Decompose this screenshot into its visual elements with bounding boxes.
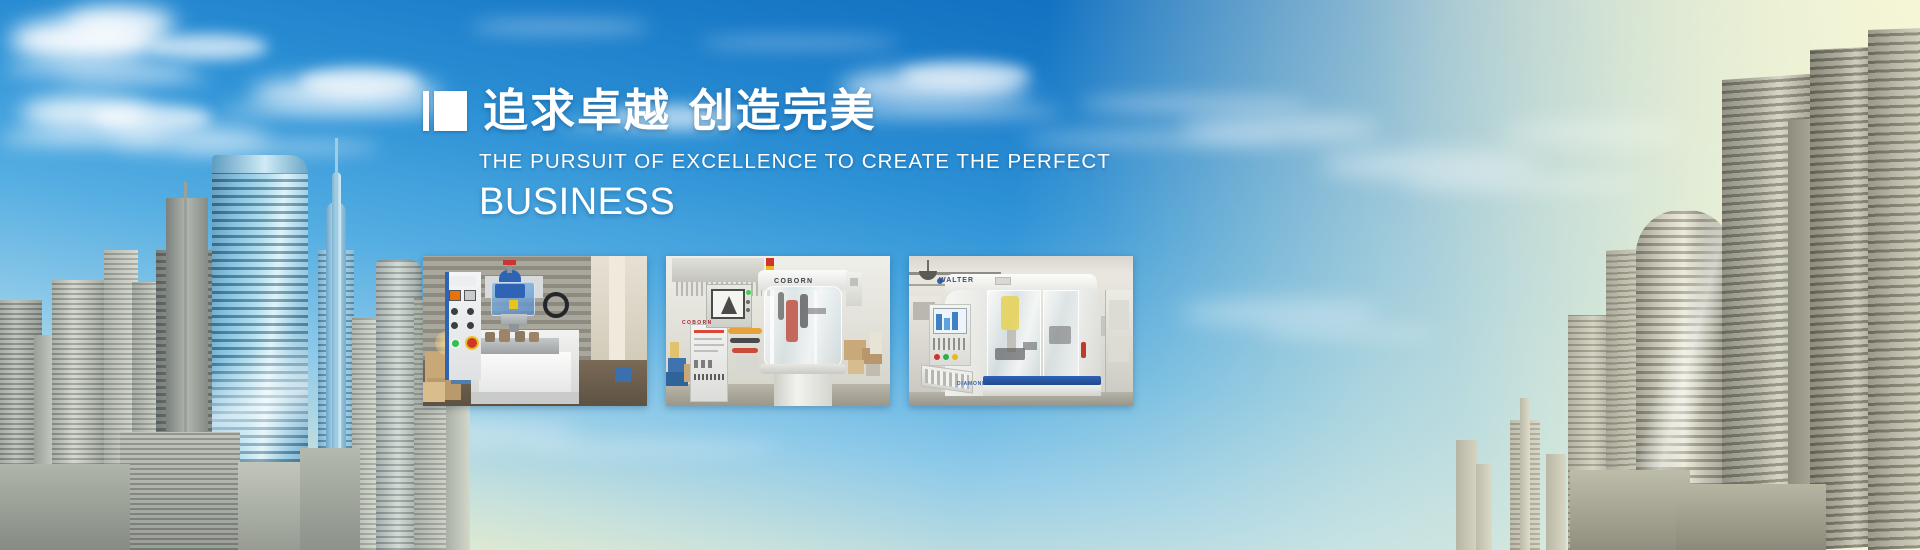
- banner-copy: 追求卓越 创造完美 THE PURSUIT OF EXCELLENCE TO C…: [423, 88, 1183, 223]
- photo-strip: COBORN COBORN: [423, 256, 1133, 406]
- photo-coborn-grinding-machine[interactable]: COBORN COBORN: [666, 256, 890, 406]
- hero-banner: 追求卓越 创造完美 THE PURSUIT OF EXCELLENCE TO C…: [0, 0, 1920, 550]
- headline-row: 追求卓越 创造完美: [423, 88, 1183, 133]
- walter-brand-label: WALTER: [939, 277, 974, 284]
- bar-block-icon: [423, 91, 467, 131]
- photo-walter-tool-grinder[interactable]: WALTER DIAMOND: [909, 256, 1133, 406]
- business-word: BUSINESS: [479, 183, 1183, 223]
- walter-diamond-label: DIAMOND: [957, 381, 987, 387]
- photo-cnc-milling-machine[interactable]: [423, 256, 647, 406]
- city-skyline-left: [0, 130, 470, 550]
- coborn-cabinet-label: COBORN: [682, 320, 713, 326]
- headline-chinese: 追求卓越 创造完美: [483, 88, 877, 133]
- city-skyline-right: [1450, 80, 1920, 550]
- tagline-english: THE PURSUIT OF EXCELLENCE TO CREATE THE …: [479, 150, 1183, 174]
- coborn-brand-label: COBORN: [774, 278, 814, 285]
